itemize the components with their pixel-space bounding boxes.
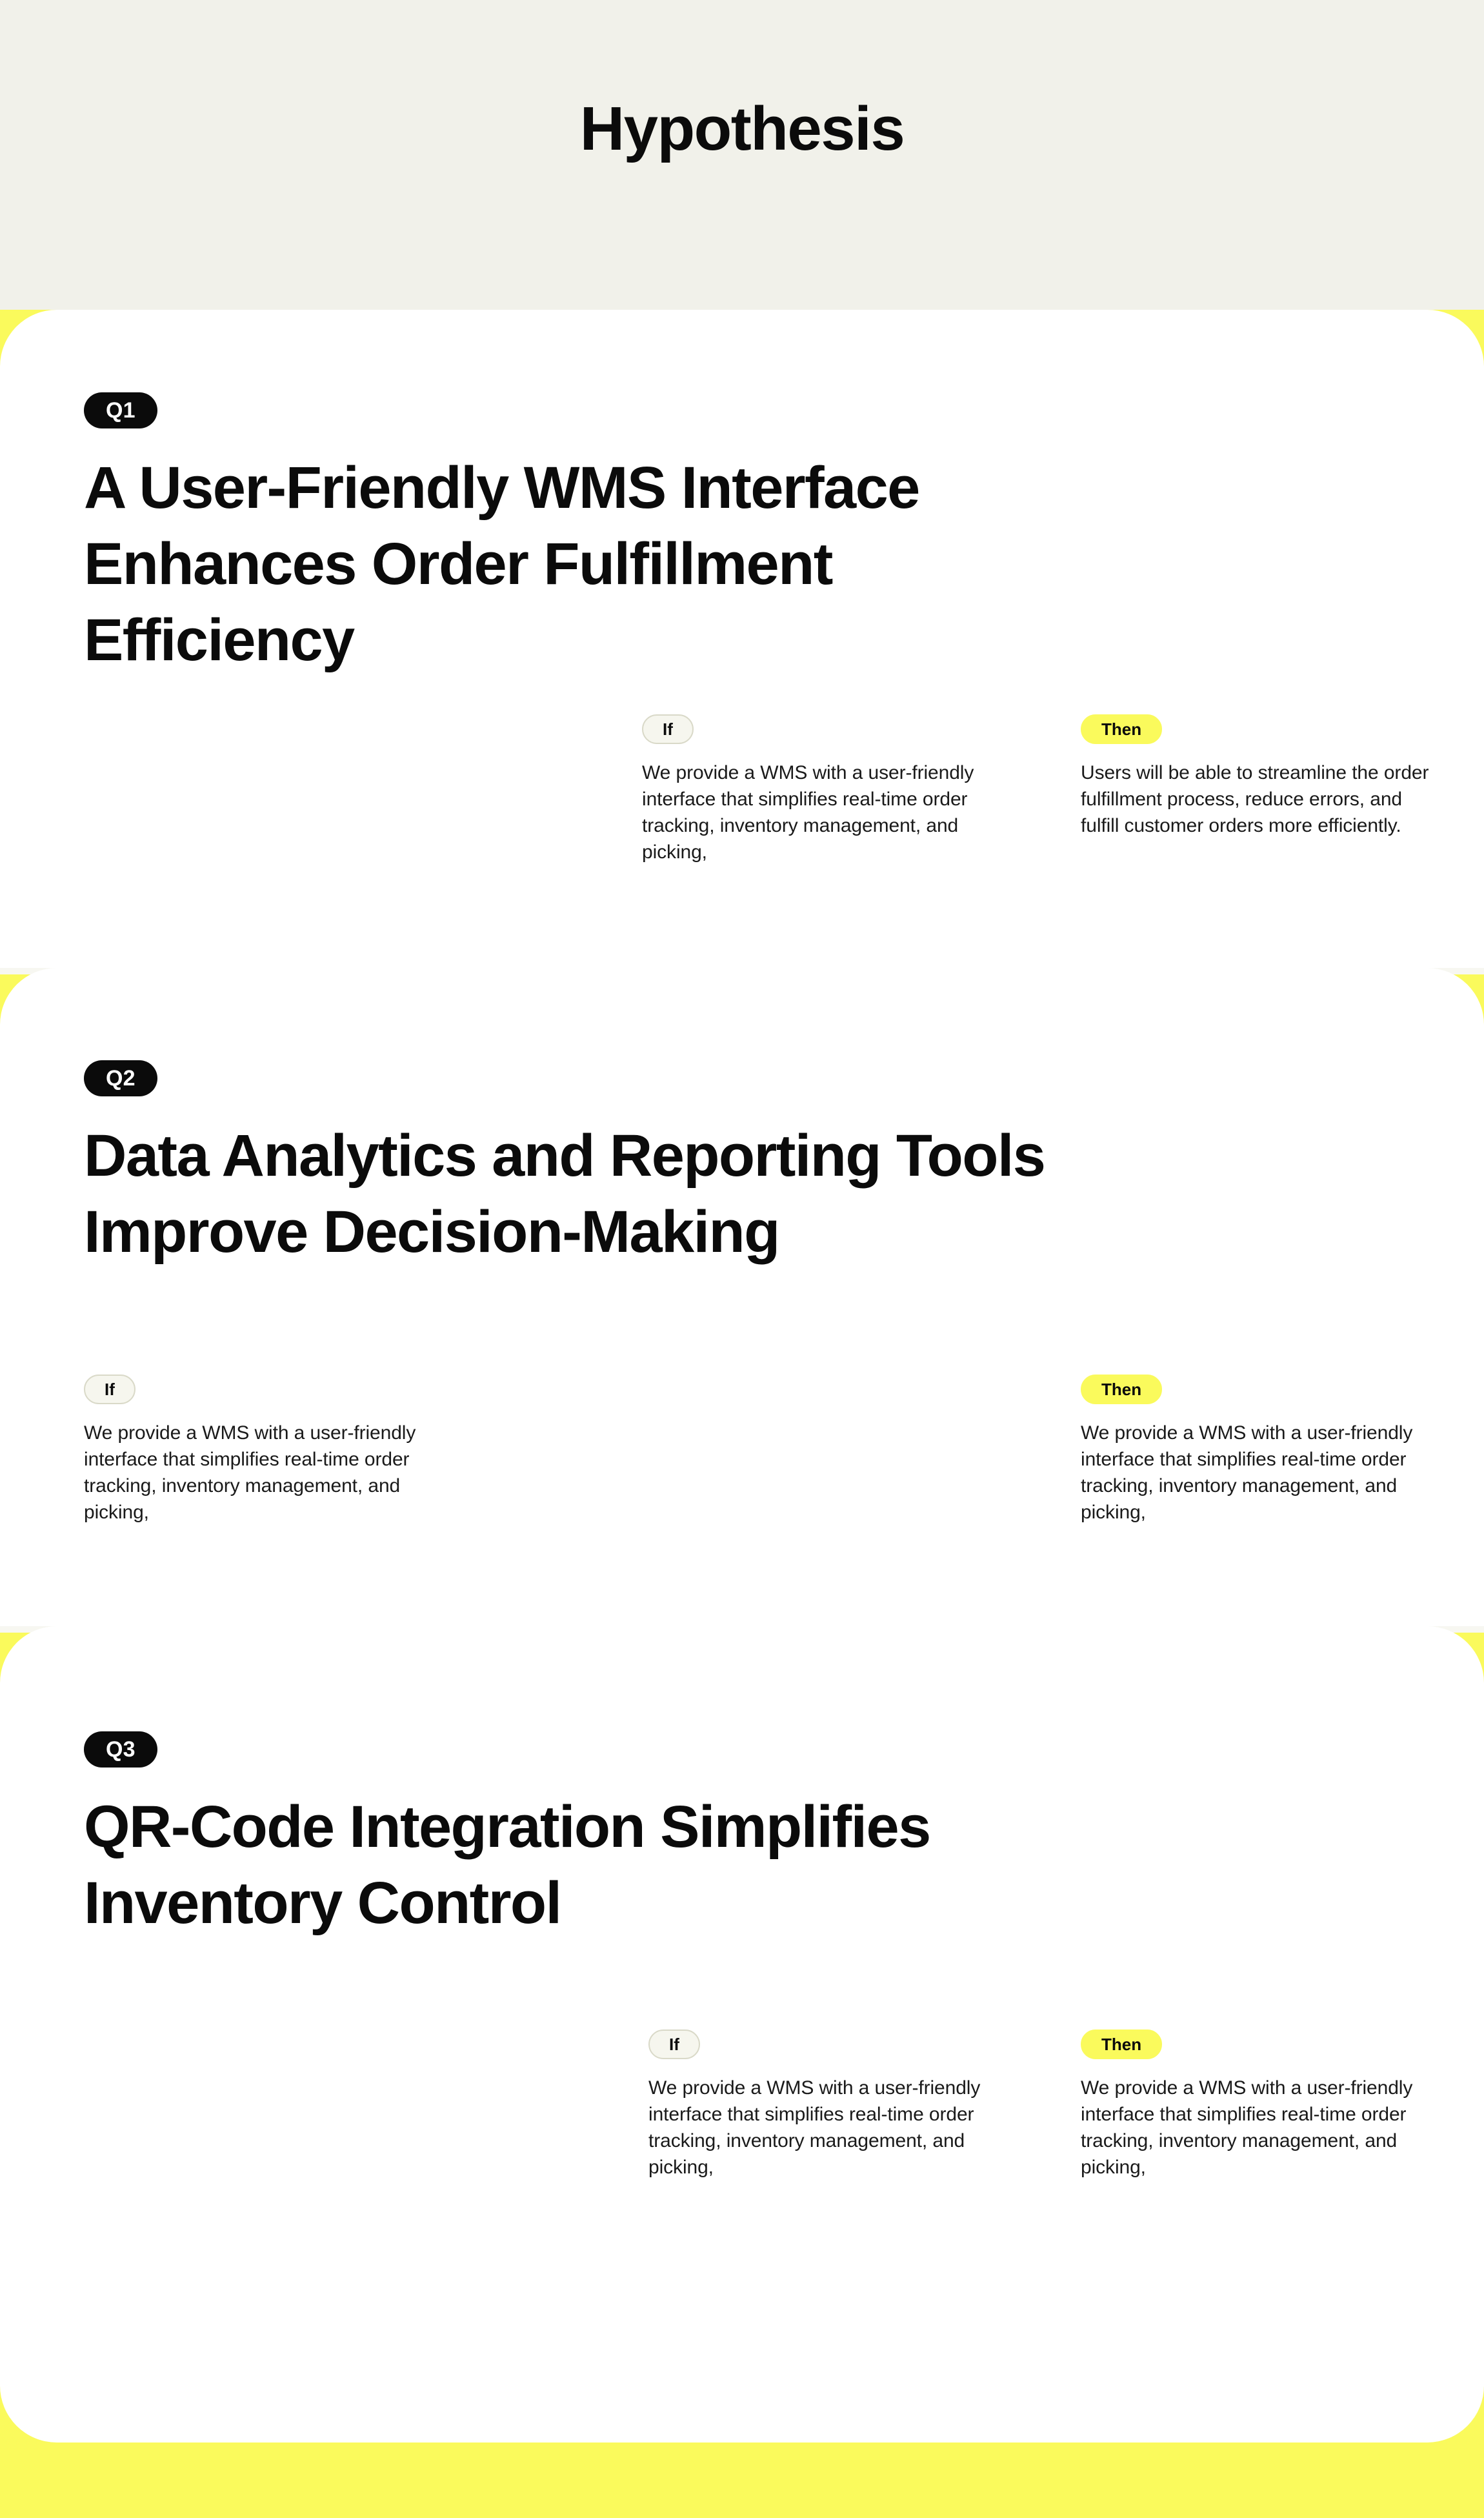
footer-accent-strip — [0, 2442, 1484, 2518]
if-text-q1: We provide a WMS with a user-friendly in… — [642, 760, 994, 865]
if-pill-q1: If — [642, 714, 694, 744]
hypothesis-card-q1: Q1 A User-Friendly WMS Interface Enhance… — [0, 310, 1484, 968]
card-badge-q3: Q3 — [84, 1731, 157, 1768]
clause-then-q1: Then Users will be able to streamline th… — [1081, 714, 1432, 839]
if-pill-q2: If — [84, 1375, 135, 1404]
clause-if-q2: If We provide a WMS with a user-friendly… — [84, 1375, 436, 1526]
if-text-q3: We provide a WMS with a user-friendly in… — [648, 2075, 1000, 2181]
clause-then-q3: Then We provide a WMS with a user-friend… — [1081, 2030, 1432, 2181]
then-pill-q3: Then — [1081, 2030, 1162, 2059]
card-heading-q2: Data Analytics and Reporting Tools Impro… — [84, 1118, 1407, 1271]
then-pill-q1: Then — [1081, 714, 1162, 744]
card-badge-q1: Q1 — [84, 392, 157, 428]
card-heading-q1: A User-Friendly WMS Interface Enhances O… — [84, 450, 1310, 678]
hypothesis-card-list: Q1 A User-Friendly WMS Interface Enhance… — [0, 0, 1484, 2518]
card-badge-q2: Q2 — [84, 1060, 157, 1096]
hypothesis-page: Hypothesis Q1 A User-Friendly WMS Interf… — [0, 0, 1484, 2518]
if-text-q2: We provide a WMS with a user-friendly in… — [84, 1420, 436, 1526]
clause-if-q1: If We provide a WMS with a user-friendly… — [642, 714, 994, 865]
card-heading-q3: QR-Code Integration Simplifies Inventory… — [84, 1789, 1342, 1942]
clause-if-q3: If We provide a WMS with a user-friendly… — [648, 2030, 1000, 2181]
clause-then-q2: Then We provide a WMS with a user-friend… — [1081, 1375, 1432, 1526]
if-pill-q3: If — [648, 2030, 700, 2059]
then-text-q3: We provide a WMS with a user-friendly in… — [1081, 2075, 1432, 2181]
hypothesis-card-q3: Q3 QR-Code Integration Simplifies Invent… — [0, 1626, 1484, 2442]
then-pill-q2: Then — [1081, 1375, 1162, 1404]
then-text-q1: Users will be able to streamline the ord… — [1081, 760, 1432, 839]
hypothesis-card-q2: Q2 Data Analytics and Reporting Tools Im… — [0, 968, 1484, 1626]
then-text-q2: We provide a WMS with a user-friendly in… — [1081, 1420, 1432, 1526]
